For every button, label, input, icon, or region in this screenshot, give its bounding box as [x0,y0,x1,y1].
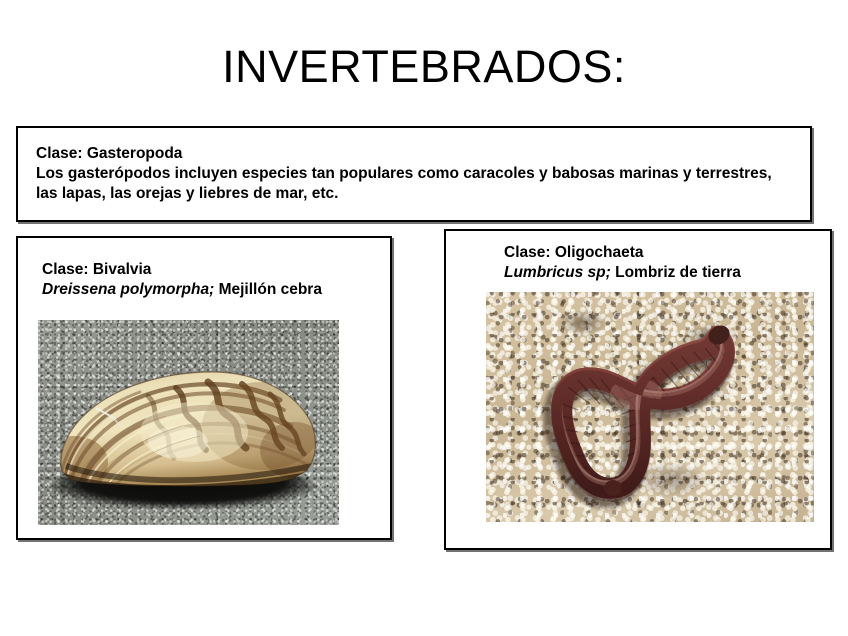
oligochaeta-class-line: Clase: Oligochaeta [504,243,824,263]
gasteropoda-description: Los gasterópodos incluyen especies tan p… [36,164,792,204]
bivalvia-card: Clase: Bivalvia Dreissena polymorpha; Me… [16,236,392,540]
earthworm-photo [486,292,814,522]
gasteropoda-caption: Clase: Gasteropoda Los gasterópodos incl… [36,144,792,204]
zebra-mussel-photo [38,320,339,525]
gasteropoda-textbox: Clase: Gasteropoda Los gasterópodos incl… [16,126,812,222]
earthworm [486,292,814,522]
oligochaeta-common-name: Lombriz de tierra [611,264,741,281]
bivalvia-species-line: Dreissena polymorpha; Mejillón cebra [42,280,382,300]
oligochaeta-species-line: Lumbricus sp; Lombriz de tierra [504,263,824,283]
bivalvia-caption: Clase: Bivalvia Dreissena polymorpha; Me… [42,260,382,300]
oligochaeta-card: Clase: Oligochaeta Lumbricus sp; Lombriz… [444,229,832,550]
bivalvia-common-name: Mejillón cebra [214,281,322,298]
bivalvia-class-line: Clase: Bivalvia [42,260,382,280]
mussel-shell [56,366,318,488]
oligochaeta-caption: Clase: Oligochaeta Lumbricus sp; Lombriz… [504,243,824,283]
oligochaeta-scientific-name: Lumbricus sp; [504,264,611,281]
gasteropoda-class-line: Clase: Gasteropoda [36,144,792,164]
page-title: INVERTEBRADOS: [0,44,848,89]
bivalvia-scientific-name: Dreissena polymorpha; [42,281,214,298]
